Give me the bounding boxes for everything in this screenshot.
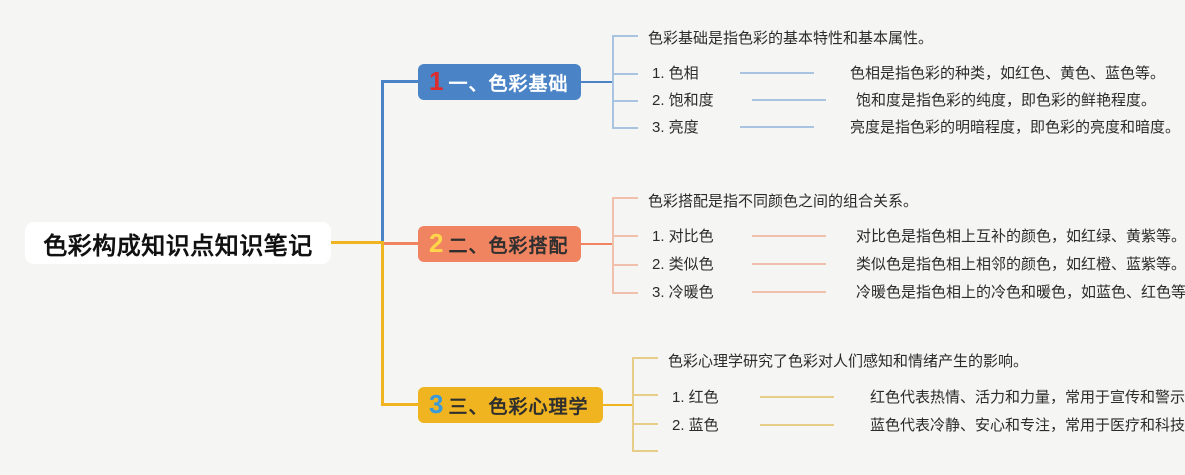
- branch-2-item-3-head: 3. 冷暖色: [652, 281, 752, 302]
- branch-1-intro: 色彩基础是指色彩的基本特性和基本属性。: [648, 27, 933, 48]
- branch-2-bracket-spine: [612, 197, 614, 293]
- branch-1-item-3-connector: [740, 126, 814, 128]
- branch-node-1[interactable]: 1 一、色彩基础: [418, 64, 581, 100]
- trunk-root-stem: [331, 241, 383, 244]
- branch-2-item-3[interactable]: 3. 冷暖色 冷暖色是指色相上的冷色和暖色，如蓝色、红色等。: [652, 281, 1185, 302]
- branch-3-bracket-spine: [632, 357, 634, 451]
- trunk-branch3-vertical: [381, 241, 384, 406]
- trunk-branch3-horizontal: [381, 403, 421, 406]
- branch-3-tick-1: [632, 394, 658, 396]
- branch-1-item-2[interactable]: 2. 饱和度 饱和度是指色彩的纯度，即色彩的鲜艳程度。: [652, 89, 1156, 110]
- branch-2-item-3-connector: [752, 291, 826, 293]
- branch-2-item-2-connector: [752, 263, 826, 265]
- branch-2-item-1-desc: 对比色是指色相上互补的颜色，如红绿、黄紫等。: [856, 225, 1185, 246]
- branch-1-item-1-connector: [740, 72, 814, 74]
- branch-node-2[interactable]: 2 二、色彩搭配: [418, 226, 581, 262]
- branch-2-tick-2: [612, 264, 638, 266]
- trunk-branch2-horizontal: [381, 242, 421, 245]
- branch-1-item-2-head: 2. 饱和度: [652, 89, 752, 110]
- trunk-branch1-vertical: [381, 80, 384, 243]
- branch-3-item-1-connector: [760, 396, 834, 398]
- branch-1-item-3-desc: 亮度是指色彩的明暗程度，即色彩的亮度和暗度。: [850, 116, 1180, 137]
- branch-1-bracket-spine: [612, 35, 614, 128]
- branch-3-intro: 色彩心理学研究了色彩对人们感知和情绪产生的影响。: [668, 350, 1028, 371]
- branch-1-item-3[interactable]: 3. 亮度 亮度是指色彩的明暗程度，即色彩的亮度和暗度。: [652, 116, 1180, 137]
- mindmap-canvas: 色彩构成知识点知识笔记 1 一、色彩基础 色彩基础是指色彩的基本特性和基本属性。…: [0, 0, 1185, 475]
- branch-2-tick-3: [612, 292, 638, 294]
- branch-1-item-1-desc: 色相是指色彩的种类，如红色、黄色、蓝色等。: [850, 62, 1165, 83]
- branch-1-tick-2: [612, 100, 638, 102]
- branch-node-3[interactable]: 3 三、色彩心理学: [418, 387, 603, 423]
- branch-1-item-2-connector: [752, 99, 826, 101]
- branch-3-item-2-desc: 蓝色代表冷静、安心和专注，常用于医疗和科技领域。: [870, 414, 1185, 435]
- branch-1-item-3-head: 3. 亮度: [652, 116, 740, 137]
- branch-3-number: 3: [429, 391, 443, 417]
- branch-2-tick-0: [612, 197, 638, 199]
- branch-2-item-1[interactable]: 1. 对比色 对比色是指色相上互补的颜色，如红绿、黄紫等。: [652, 225, 1185, 246]
- trunk-branch1-horizontal: [381, 80, 421, 83]
- branch-1-tick-0: [612, 35, 638, 37]
- branch-3-item-2-connector: [760, 424, 834, 426]
- branch-3-bracket-stem: [603, 404, 633, 406]
- branch-2-item-2-desc: 类似色是指色相上相邻的颜色，如红橙、蓝紫等。: [856, 253, 1185, 274]
- branch-2-item-3-desc: 冷暖色是指色相上的冷色和暖色，如蓝色、红色等。: [856, 281, 1185, 302]
- branch-1-item-1-head: 1. 色相: [652, 62, 740, 83]
- branch-2-number: 2: [429, 230, 443, 256]
- branch-3-item-2[interactable]: 2. 蓝色 蓝色代表冷静、安心和专注，常用于医疗和科技领域。: [672, 414, 1185, 435]
- branch-1-tick-3: [612, 127, 638, 129]
- root-node[interactable]: 色彩构成知识点知识笔记: [25, 222, 331, 264]
- branch-2-item-1-connector: [752, 235, 826, 237]
- branch-2-intro: 色彩搭配是指不同颜色之间的组合关系。: [648, 190, 918, 211]
- branch-1-item-2-desc: 饱和度是指色彩的纯度，即色彩的鲜艳程度。: [856, 89, 1156, 110]
- branch-3-item-1[interactable]: 1. 红色 红色代表热情、活力和力量，常用于宣传和警示标志。: [672, 386, 1185, 407]
- branch-3-tick-3: [632, 450, 658, 452]
- branch-3-item-1-desc: 红色代表热情、活力和力量，常用于宣传和警示标志。: [870, 386, 1185, 407]
- branch-1-tick-1: [612, 73, 638, 75]
- branch-1-item-1[interactable]: 1. 色相 色相是指色彩的种类，如红色、黄色、蓝色等。: [652, 62, 1165, 83]
- branch-2-tick-1: [612, 235, 638, 237]
- branch-2-item-2[interactable]: 2. 类似色 类似色是指色相上相邻的颜色，如红橙、蓝紫等。: [652, 253, 1185, 274]
- root-node-title: 色彩构成知识点知识笔记: [43, 226, 313, 261]
- branch-3-label: 三、色彩心理学: [448, 392, 588, 419]
- branch-3-tick-0: [632, 357, 658, 359]
- branch-1-number: 1: [429, 68, 443, 94]
- branch-2-item-2-head: 2. 类似色: [652, 253, 752, 274]
- branch-1-bracket-stem: [581, 81, 613, 83]
- branch-2-bracket-stem: [581, 243, 613, 245]
- branch-3-tick-2: [632, 423, 658, 425]
- branch-1-label: 一、色彩基础: [448, 69, 568, 96]
- branch-2-item-1-head: 1. 对比色: [652, 225, 752, 246]
- branch-3-item-2-head: 2. 蓝色: [672, 414, 760, 435]
- branch-3-item-1-head: 1. 红色: [672, 386, 760, 407]
- branch-2-label: 二、色彩搭配: [448, 231, 568, 258]
